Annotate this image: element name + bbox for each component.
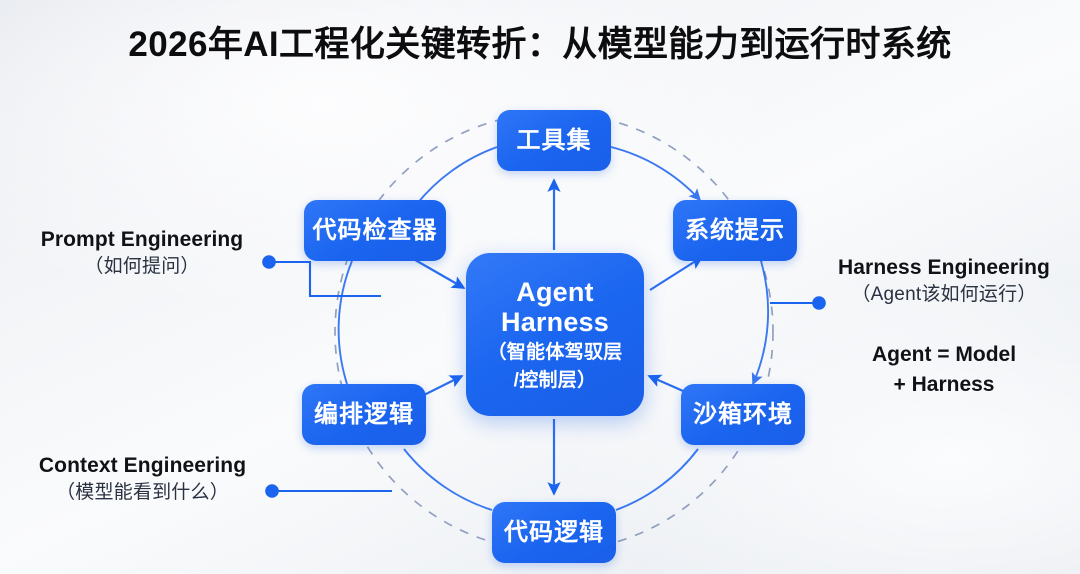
label-harness-engineering-en: Harness Engineering [818, 254, 1070, 281]
node-tools-label: 工具集 [517, 127, 592, 155]
diagram-canvas: 2026年AI工程化关键转折：从模型能力到运行时系统 [0, 0, 1080, 574]
agent-harness-line-2: Harness [501, 307, 609, 337]
label-context-engineering-zh: （模型能看到什么） [20, 479, 265, 507]
node-code-linter[interactable]: 代码检查器 [304, 200, 446, 261]
prompt-engineering-connector [262, 255, 381, 296]
label-prompt-engineering: Prompt Engineering （如何提问） [22, 226, 262, 281]
node-system-prompt-label: 系统提示 [685, 217, 785, 245]
label-harness-engineering-zh: （Agent该如何运行） [818, 281, 1070, 309]
context-engineering-connector [265, 484, 392, 498]
node-system-prompt[interactable]: 系统提示 [673, 200, 797, 261]
label-prompt-engineering-en: Prompt Engineering [22, 226, 262, 253]
label-context-engineering: Context Engineering （模型能看到什么） [20, 452, 265, 507]
node-code-linter-label: 代码检查器 [313, 217, 438, 245]
agent-formula-line-1: Agent = Model [826, 340, 1062, 370]
agent-harness-subtitle-2: /控制层） [514, 368, 597, 393]
node-sandbox-environment[interactable]: 沙箱环境 [681, 384, 805, 445]
agent-formula-line-2: + Harness [826, 370, 1062, 400]
agent-formula: Agent = Model + Harness [826, 340, 1062, 400]
node-orchestration-logic[interactable]: 编排逻辑 [302, 384, 426, 445]
arrow-linter-to-center [410, 257, 464, 288]
node-orchestration-logic-label: 编排逻辑 [314, 401, 414, 429]
arrow-center-to-sysprompt [650, 257, 702, 290]
node-code-logic-label: 代码逻辑 [504, 519, 604, 547]
node-agent-harness[interactable]: Agent Harness （智能体驾驭层 /控制层） [466, 253, 644, 416]
agent-harness-subtitle-1: （智能体驾驭层 [487, 340, 622, 365]
node-tools[interactable]: 工具集 [497, 110, 611, 171]
node-sandbox-environment-label: 沙箱环境 [693, 401, 793, 429]
label-harness-engineering: Harness Engineering （Agent该如何运行） [818, 254, 1070, 309]
agent-harness-line-1: Agent [516, 277, 594, 307]
node-code-logic[interactable]: 代码逻辑 [492, 502, 616, 563]
label-prompt-engineering-zh: （如何提问） [22, 253, 262, 281]
label-context-engineering-en: Context Engineering [20, 452, 265, 479]
